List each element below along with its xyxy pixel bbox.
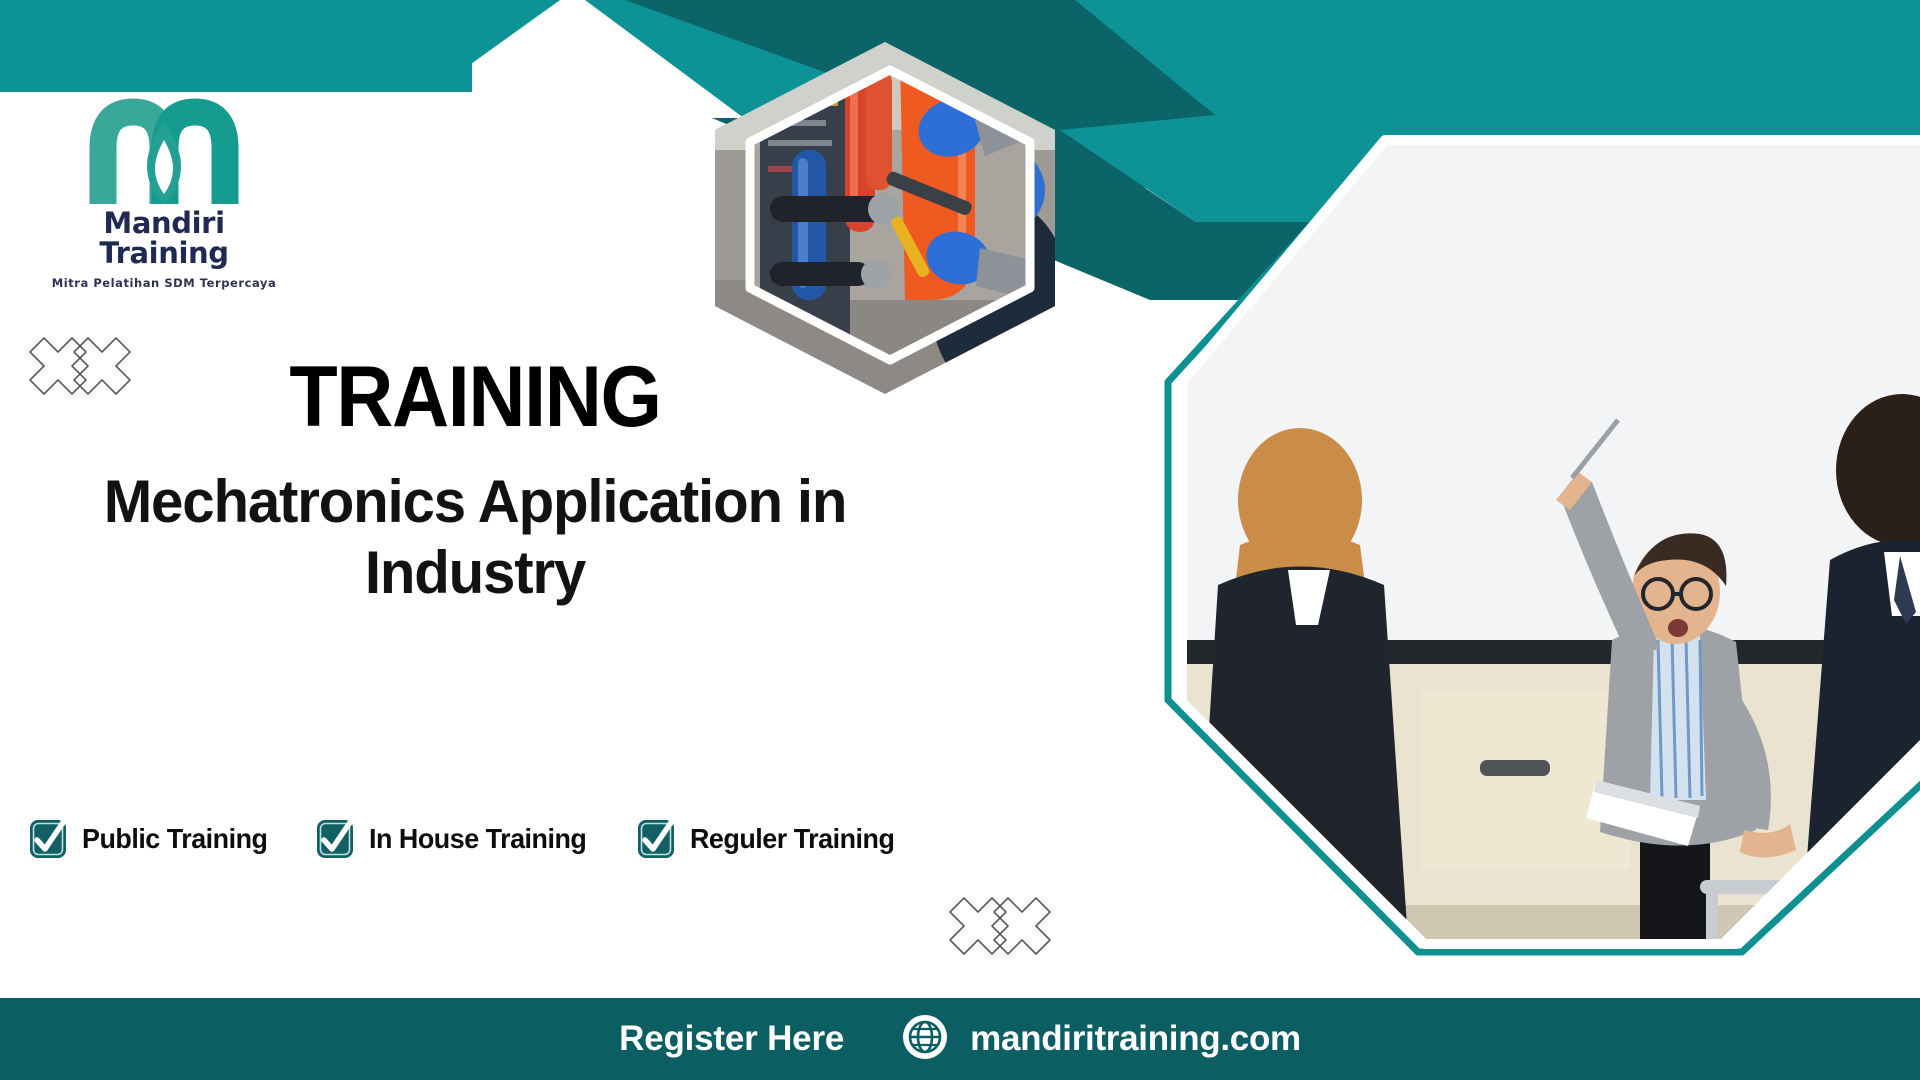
checkbox-checked-icon[interactable] — [28, 818, 68, 860]
option-label: Public Training — [82, 823, 267, 855]
headline-block: TRAINING Mechatronics Application in Ind… — [70, 355, 880, 609]
hexagon-photo-technician-group — [700, 30, 1070, 410]
cross-decoration-bottom-center — [950, 898, 1050, 954]
brand-name: Mandiri Training — [34, 208, 294, 269]
mandiri-m-monogram-icon — [89, 96, 239, 206]
footer-bar: Register Here mandiritraining.com — [0, 998, 1920, 1080]
checkbox-checked-icon[interactable] — [636, 818, 676, 860]
brand-tagline: Mitra Pelatihan SDM Terpercaya — [34, 276, 294, 290]
option-reguler-training[interactable]: Reguler Training — [636, 818, 903, 860]
training-kicker: TRAINING — [102, 355, 847, 439]
brand-logo: Mandiri Training Mitra Pelatihan SDM Ter… — [34, 96, 294, 290]
globe-icon — [902, 1014, 948, 1065]
website-link[interactable]: mandiritraining.com — [902, 1014, 1301, 1065]
option-public-training[interactable]: Public Training — [28, 818, 275, 860]
register-here-label[interactable]: Register Here — [619, 1019, 844, 1059]
hexagon-photo-classroom-group — [1150, 120, 1920, 1010]
course-title: Mechatronics Application in Industry — [82, 467, 868, 609]
website-url: mandiritraining.com — [970, 1019, 1301, 1059]
training-options-row: Public Training In House Training Re — [28, 818, 903, 860]
option-label: Reguler Training — [690, 823, 894, 855]
course-title-line-1: Mechatronics Application in — [82, 467, 868, 538]
option-in-house-training[interactable]: In House Training — [315, 818, 595, 860]
checkbox-checked-icon[interactable] — [315, 818, 355, 860]
poster-canvas: Mandiri Training Mitra Pelatihan SDM Ter… — [0, 0, 1920, 1080]
option-label: In House Training — [369, 823, 586, 855]
course-title-line-2: Industry — [82, 538, 868, 609]
